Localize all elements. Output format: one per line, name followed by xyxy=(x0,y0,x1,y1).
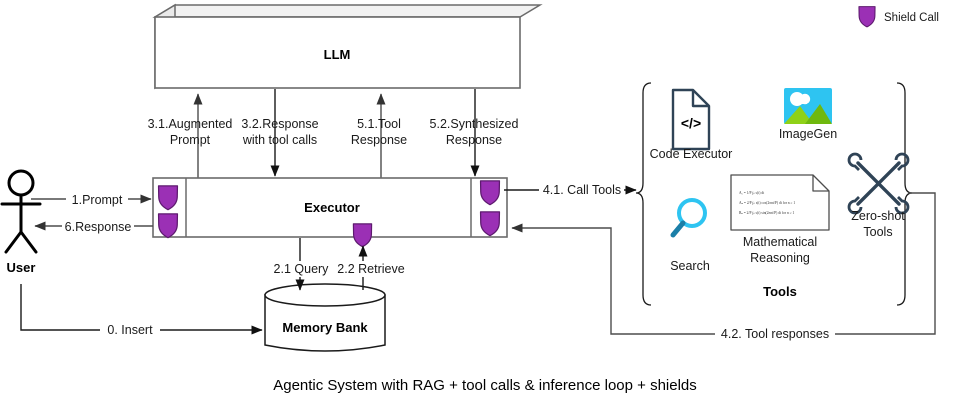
tools-right-brace xyxy=(897,83,912,305)
flow-label-3-1-line2: Prompt xyxy=(170,133,211,147)
tool-label-zero-shot-line2: Tools xyxy=(863,225,892,239)
legend-label: Shield Call xyxy=(884,12,939,24)
executor-label: Executor xyxy=(304,200,360,215)
tool-zero-shot[interactable]: Zero-shot Tools xyxy=(849,154,908,239)
shield-icon-legend xyxy=(859,7,875,27)
tool-label-code-executor: Code Executor xyxy=(650,147,733,161)
flow-insert: 0. Insert xyxy=(21,284,262,338)
flow-response: 6.Response xyxy=(35,217,153,234)
node-llm[interactable]: LLM xyxy=(155,5,540,88)
legend-shield-call: Shield Call xyxy=(859,7,939,27)
math-formula-1: A₀ = 1/P ∫ₚ s(t) dt xyxy=(739,191,764,195)
flow-retrieve: 2.2 Retrieve xyxy=(334,246,408,290)
node-executor[interactable]: Executor xyxy=(153,178,507,247)
tool-math-reasoning[interactable]: A₀ = 1/P ∫ₚ s(t) dt Aₙ = 2/P ∫ₚ s(t) cos… xyxy=(731,175,829,265)
flow-response-with-tool-calls: 3.2.Response with tool calls xyxy=(241,89,318,176)
tools-group-label: Tools xyxy=(763,284,797,299)
tool-label-math-line1: Mathematical xyxy=(743,235,817,249)
flow-prompt: 1.Prompt xyxy=(31,190,151,207)
magnifier-handle xyxy=(673,223,683,235)
diagram-canvas: LLM 3.1.Augmented Prompt 3.2.Response wi… xyxy=(0,0,970,411)
flow-query: 2.1 Query xyxy=(271,238,331,290)
flow-synthesized-response: 5.2.Synthesized Response xyxy=(430,89,519,176)
math-formula-3: Bₙ = 2/P ∫ₚ s(t) sin(2πnt/P) dt for n ≥ … xyxy=(739,211,795,215)
flow-label-2-2: 2.2 Retrieve xyxy=(337,262,404,276)
flow-label-3-2-line2: with tool calls xyxy=(242,133,317,147)
crossed-wrenches-icon xyxy=(858,163,899,204)
flow-label-4-2: 4.2. Tool responses xyxy=(721,327,829,341)
flow-label-6: 6.Response xyxy=(65,220,132,234)
flow-augmented-prompt: 3.1.Augmented Prompt xyxy=(148,94,233,178)
user-head xyxy=(9,171,33,195)
tool-code-executor[interactable]: </> Code Executor xyxy=(650,90,733,161)
node-memory-bank[interactable]: Memory Bank xyxy=(265,284,385,351)
tool-label-zero-shot-line1: Zero-shot xyxy=(851,209,905,223)
memory-bank-top xyxy=(265,284,385,306)
tool-label-math-line2: Reasoning xyxy=(750,251,810,265)
user-label: User xyxy=(7,260,36,275)
memory-bank-label: Memory Bank xyxy=(282,320,368,335)
flow-label-1: 1.Prompt xyxy=(72,193,123,207)
llm-cube-top xyxy=(155,5,540,17)
flow-label-3-1-line1: 3.1.Augmented xyxy=(148,117,233,131)
flow-call-tools: 4.1. Call Tools xyxy=(504,181,636,198)
tool-imagegen[interactable]: ImageGen xyxy=(779,88,837,141)
flow-label-5-2-line1: 5.2.Synthesized xyxy=(430,117,519,131)
flow-label-3-2-line1: 3.2.Response xyxy=(241,117,318,131)
code-glyph: </> xyxy=(681,115,701,131)
llm-label: LLM xyxy=(324,47,351,62)
flow-label-5-1-line2: Response xyxy=(351,133,407,147)
flow-label-0: 0. Insert xyxy=(107,323,153,337)
tool-label-search: Search xyxy=(670,259,710,273)
flow-tool-response: 5.1.Tool Response xyxy=(351,94,407,178)
tool-search[interactable]: Search xyxy=(670,200,710,273)
tool-label-imagegen: ImageGen xyxy=(779,127,837,141)
diagram-caption: Agentic System with RAG + tool calls & i… xyxy=(273,377,697,394)
image-cloud-base xyxy=(793,99,807,104)
user-leg-left xyxy=(6,232,21,252)
flow-label-4-1: 4.1. Call Tools xyxy=(543,183,621,197)
flow-label-2-1: 2.1 Query xyxy=(274,262,330,276)
tools-left-brace xyxy=(636,83,651,305)
user-leg-right xyxy=(21,232,36,252)
shield-icon-memory-retrieve[interactable] xyxy=(353,224,371,247)
node-user[interactable]: User xyxy=(2,171,40,275)
flow-label-5-2-line2: Response xyxy=(446,133,502,147)
math-formula-2: Aₙ = 2/P ∫ₚ s(t) cos(2πnt/P) dt for n ≥ … xyxy=(739,201,795,205)
flow-label-5-1-line1: 5.1.Tool xyxy=(357,117,401,131)
